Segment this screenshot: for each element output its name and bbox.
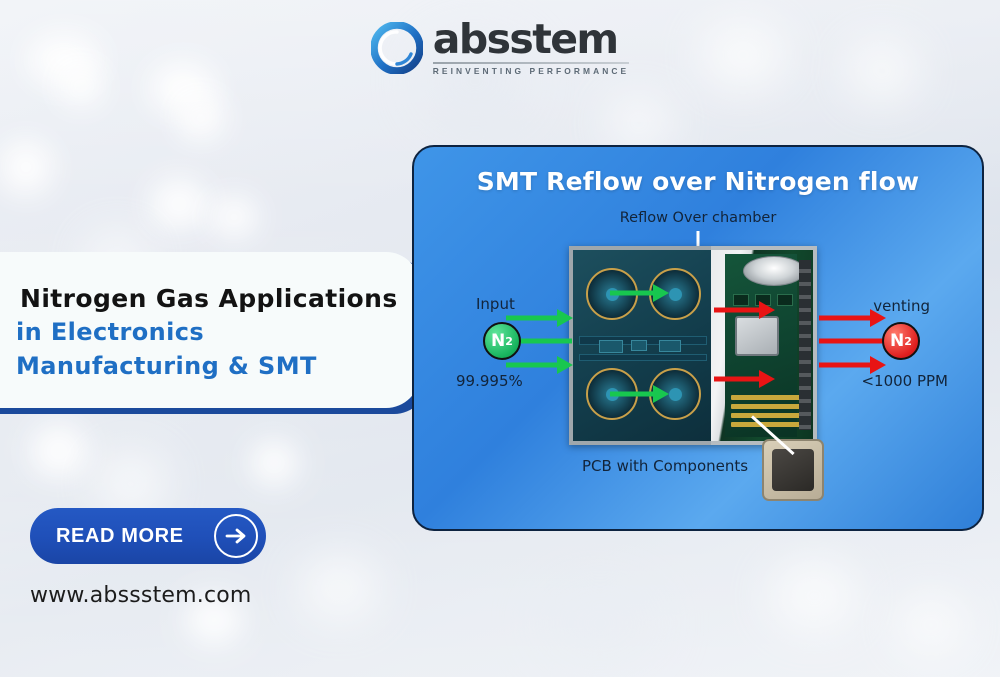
- n2-subscript: 2: [505, 335, 513, 348]
- n2-symbol: N: [890, 331, 904, 351]
- chamber-module: [659, 340, 681, 352]
- bokeh-blob: [300, 556, 378, 620]
- label-venting-ppm: <1000 PPM: [861, 372, 948, 390]
- arrow-right-glyph: [224, 526, 248, 546]
- bokeh-blob: [96, 452, 166, 516]
- bokeh-blob: [30, 424, 88, 478]
- nitrogen-input-bubble: N2: [483, 322, 521, 360]
- read-more-label: READ MORE: [56, 525, 184, 548]
- brand-logo: absstem REINVENTING PERFORMANCE: [0, 20, 1000, 76]
- website-url[interactable]: www.abssstem.com: [30, 583, 252, 608]
- motherboard: [725, 254, 797, 437]
- label-reflow-chamber: Reflow Over chamber: [620, 210, 777, 226]
- bokeh-blob: [608, 96, 670, 150]
- conveyor-rail: [579, 354, 707, 361]
- diagram-title: SMT Reflow over Nitrogen flow: [414, 167, 982, 196]
- label-pcb: PCB with Components: [582, 457, 748, 475]
- chamber-module: [599, 340, 623, 353]
- title-card: Nitrogen Gas Applications in Electronics…: [0, 252, 420, 408]
- brand-wordmark: absstem: [433, 20, 618, 59]
- nitrogen-chamber-section: [569, 246, 711, 445]
- pcb-board-section: [711, 246, 817, 445]
- arrow-right-circle-icon: [214, 514, 258, 558]
- cpu-socket: [735, 316, 779, 356]
- ram-slots: [731, 395, 805, 429]
- bokeh-blob: [150, 178, 208, 230]
- disc-component: [743, 256, 805, 286]
- pcb-component-chip: [762, 439, 824, 501]
- n2-subscript: 2: [904, 335, 912, 348]
- bokeh-blob: [770, 560, 858, 632]
- page-title-line-3: Manufacturing & SMT: [16, 351, 394, 382]
- nitrogen-venting-bubble: N2: [882, 322, 920, 360]
- bokeh-blob: [250, 440, 298, 486]
- bokeh-blob: [0, 140, 52, 194]
- brand-rule: [433, 62, 629, 64]
- chamber-module: [631, 340, 647, 351]
- bokeh-blob: [178, 96, 224, 140]
- reflow-oven-machine: [569, 246, 817, 445]
- brand-tagline: REINVENTING PERFORMANCE: [433, 66, 629, 76]
- rear-io-ports: [799, 260, 811, 430]
- label-input-purity: 99.995%: [456, 372, 523, 390]
- label-input: Input: [476, 295, 515, 313]
- bokeh-blob: [210, 196, 258, 238]
- read-more-button[interactable]: READ MORE: [30, 508, 266, 564]
- bokeh-blob: [540, 580, 660, 666]
- diagram-panel: SMT Reflow over Nitrogen flow Reflow Ove…: [412, 145, 984, 531]
- n2-symbol: N: [491, 331, 505, 351]
- board-component: [733, 294, 749, 306]
- board-component: [777, 294, 793, 306]
- bokeh-blob: [896, 596, 966, 654]
- page-title-line-1: Nitrogen Gas Applications: [16, 282, 394, 315]
- abssstem-swirl-icon: [371, 22, 423, 74]
- page-title-line-2: in Electronics: [16, 317, 394, 348]
